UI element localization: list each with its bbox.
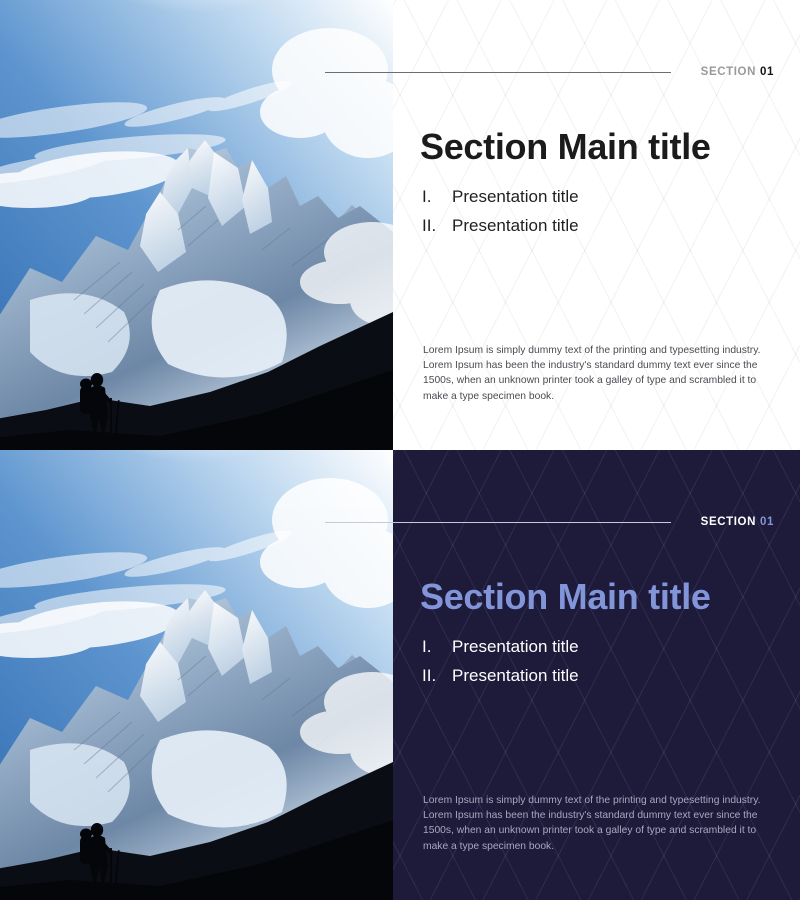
list-item[interactable]: II. Presentation title	[422, 211, 579, 240]
agenda-list-dark: I. Presentation title II. Presentation t…	[422, 632, 579, 690]
page-title: Section Main title	[420, 126, 711, 168]
list-item-numeral: I.	[422, 182, 452, 211]
section-word: SECTION	[701, 516, 756, 528]
body-paragraph: Lorem Ipsum is simply dummy text of the …	[423, 343, 783, 404]
list-item[interactable]: II. Presentation title	[422, 661, 579, 690]
section-eyebrow-dark: SECTION01	[325, 512, 774, 532]
list-item-label: Presentation title	[452, 661, 579, 690]
page-title: Section Main title	[420, 576, 711, 618]
list-item[interactable]: I. Presentation title	[422, 632, 579, 661]
section-number: 01	[760, 66, 774, 78]
section-eyebrow-light: SECTION01	[325, 62, 774, 82]
section-rule	[325, 522, 671, 523]
slide-deck: SECTION01 Section Main title I. Presenta…	[0, 0, 800, 900]
section-label: SECTION01	[701, 516, 774, 528]
list-item-numeral: II.	[422, 211, 452, 240]
list-item-label: Presentation title	[452, 632, 579, 661]
slide-light-variant[interactable]: SECTION01 Section Main title I. Presenta…	[0, 0, 800, 450]
section-rule	[325, 72, 671, 73]
section-word: SECTION	[701, 66, 756, 78]
list-item-numeral: II.	[422, 661, 452, 690]
slide-dark-variant[interactable]: SECTION01 Section Main title I. Presenta…	[0, 450, 800, 900]
list-item-numeral: I.	[422, 632, 452, 661]
section-number: 01	[760, 516, 774, 528]
list-item-label: Presentation title	[452, 211, 579, 240]
body-paragraph: Lorem Ipsum is simply dummy text of the …	[423, 793, 783, 854]
agenda-list-light: I. Presentation title II. Presentation t…	[422, 182, 579, 240]
list-item[interactable]: I. Presentation title	[422, 182, 579, 211]
section-label: SECTION01	[701, 66, 774, 78]
list-item-label: Presentation title	[452, 182, 579, 211]
